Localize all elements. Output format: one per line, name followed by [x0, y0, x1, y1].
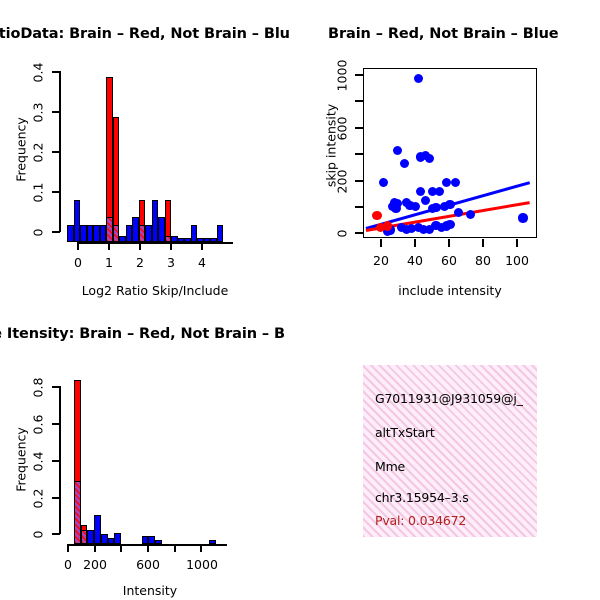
histogram-bar	[155, 540, 162, 544]
histogram-bar	[87, 530, 94, 544]
scatter-point	[372, 211, 381, 220]
scatter-xlabel: include intensity	[350, 283, 550, 298]
scatter-y-ticklabel: 1000	[335, 51, 350, 101]
scatter-y-ticklabel: 0	[335, 214, 350, 254]
scatter-x-tick	[516, 239, 518, 247]
scatter-title: Brain – Red, Not Brain – Blue	[328, 26, 559, 42]
scatter-point	[400, 159, 409, 168]
scatter-y-tick	[355, 180, 363, 182]
scatter-point	[445, 200, 454, 209]
ratio-histogram-panel: RatioData: Brain – Red, Not Brain – Blu …	[0, 0, 300, 300]
histogram-bar-overlap	[81, 530, 88, 544]
scatter-point	[414, 74, 423, 83]
scatter-y-tick	[355, 100, 363, 102]
scatter-y-tick	[355, 74, 363, 76]
histogram-bar-overlap	[74, 481, 81, 544]
scatter-x-ticklabel: 100	[502, 253, 532, 268]
scatter-y-ticklabel: 600	[335, 104, 350, 154]
histogram-bar	[217, 225, 224, 242]
scatter-point	[451, 178, 460, 187]
histogram-bar	[148, 536, 155, 544]
event-info-panel: G7011931@J931059@j_ altTxStart Mme chr3.…	[363, 365, 537, 537]
info-line-gene: Mme	[375, 459, 405, 474]
scatter-point	[411, 202, 420, 211]
scatter-x-tick	[380, 239, 382, 247]
scatter-point	[416, 187, 425, 196]
intensity-histogram-bars	[0, 300, 300, 600]
scatter-y-tick	[355, 153, 363, 155]
scatter-point	[518, 213, 527, 222]
histogram-bar	[101, 534, 108, 544]
scatter-point	[379, 178, 388, 187]
intensity-histogram-panel: ne Itensity: Brain – Red, Not Brain – B …	[0, 300, 300, 600]
scatter-point	[445, 220, 454, 229]
scatter-y-tick	[355, 232, 363, 234]
scatter-x-ticklabel: 40	[400, 253, 430, 268]
scatter-panel: Brain – Red, Not Brain – Blue skip inten…	[300, 0, 600, 300]
scatter-x-tick	[414, 239, 416, 247]
scatter-y-ticklabel: 200	[335, 157, 350, 207]
scatter-y-tick	[355, 127, 363, 129]
scatter-x-ticklabel: 60	[434, 253, 464, 268]
histogram-bar	[113, 117, 120, 242]
scatter-point	[376, 223, 385, 232]
info-line-id: G7011931@J931059@j_	[375, 391, 523, 406]
ratio-histogram-bars	[0, 0, 300, 300]
scatter-point	[454, 208, 463, 217]
histogram-bar	[142, 536, 149, 544]
info-line-event-type: altTxStart	[375, 425, 435, 440]
histogram-bar	[209, 540, 216, 544]
histogram-bar	[114, 533, 121, 544]
histogram-bar	[108, 538, 115, 544]
scatter-x-ticklabel: 20	[366, 253, 396, 268]
scatter-point	[393, 146, 402, 155]
scatter-point	[466, 210, 475, 219]
info-line-pvalue: Pval: 0.034672	[375, 513, 466, 528]
histogram-bar	[94, 515, 101, 544]
scatter-point	[442, 178, 451, 187]
scatter-x-tick	[482, 239, 484, 247]
scatter-point	[391, 204, 400, 213]
scatter-y-tick	[355, 206, 363, 208]
scatter-point	[435, 187, 444, 196]
scatter-x-ticklabel: 80	[468, 253, 498, 268]
scatter-x-tick	[448, 239, 450, 247]
info-line-locus: chr3.15954–3.s	[375, 490, 469, 505]
scatter-point	[425, 154, 434, 163]
scatter-data-points	[363, 68, 537, 238]
